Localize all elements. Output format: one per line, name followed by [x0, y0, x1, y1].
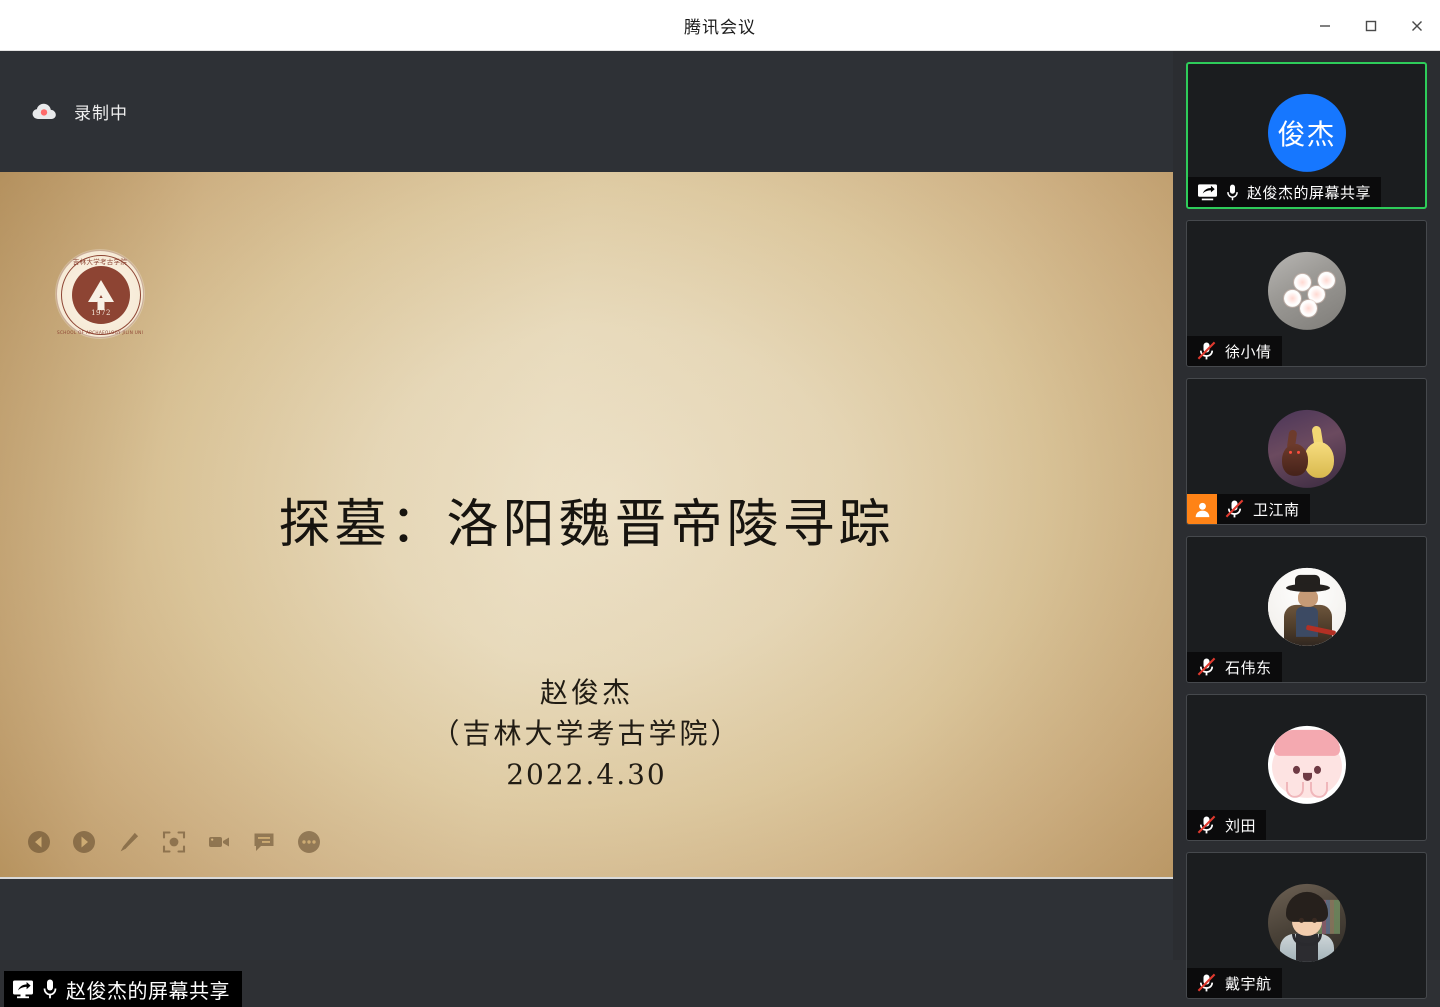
blossom-petal: [1318, 271, 1335, 288]
screen-share-icon: [12, 979, 34, 999]
avatar: [1268, 567, 1346, 645]
minimize-button[interactable]: [1302, 0, 1348, 51]
microphone-muted-icon: [1196, 657, 1218, 677]
tile-footer: 刘田: [1187, 810, 1266, 840]
tile-footer: 卫江南: [1187, 494, 1310, 524]
close-button[interactable]: [1394, 0, 1440, 51]
bunny-dark: [1282, 443, 1308, 475]
slide-subtitle-block: 赵俊杰 （吉林大学考古学院） 2022.4.30: [0, 672, 1173, 795]
slide-date: 2022.4.30: [0, 754, 1173, 795]
logo-bottom-text: SCHOOL OF ARCHAEOLOGY JILIN UNIVERSITY: [57, 330, 143, 335]
video-camera-button[interactable]: [206, 829, 232, 855]
next-slide-button[interactable]: [71, 829, 97, 855]
microphone-muted-icon: [1224, 499, 1246, 519]
participant-sidebar[interactable]: 俊杰 赵俊杰的屏幕共享: [1173, 51, 1440, 960]
anime-eye: [1312, 917, 1317, 922]
avatar: [1268, 251, 1346, 329]
previous-slide-button[interactable]: [26, 829, 52, 855]
cloud-record-icon: [32, 99, 58, 125]
subtitle-button[interactable]: [251, 829, 277, 855]
tile-footer: 徐小倩: [1187, 336, 1282, 366]
logo-core: 1972: [72, 266, 130, 324]
participant-name: 戴宇航: [1225, 973, 1272, 994]
avatar: [1268, 409, 1346, 487]
tile-footer: 石伟东: [1187, 652, 1282, 682]
cartoon-eye: [1293, 765, 1300, 773]
share-owner-name: 赵俊杰的屏幕共享: [66, 975, 230, 1004]
anime-hair: [1286, 891, 1328, 921]
participant-name: 刘田: [1225, 815, 1256, 836]
slide-affiliation: （吉林大学考古学院）: [0, 713, 1173, 754]
anime-eye: [1299, 917, 1304, 922]
cowboy-vest: [1296, 606, 1318, 636]
presentation-slide: 吉林大学考古学院 1972 SCHOOL OF ARCHAEOLOGY JILI…: [0, 172, 1173, 877]
participant-name: 徐小倩: [1225, 341, 1272, 362]
blossom-petal: [1300, 299, 1317, 316]
participant-name: 卫江南: [1253, 499, 1300, 520]
microphone-muted-icon: [1196, 973, 1218, 993]
participant-tile-sharing[interactable]: 俊杰 赵俊杰的屏幕共享: [1186, 62, 1427, 209]
participant-name: 石伟东: [1225, 657, 1272, 678]
cartoon-arm: [1310, 781, 1328, 797]
window-titlebar: 腾讯会议: [0, 0, 1440, 51]
window-title: 腾讯会议: [684, 13, 756, 38]
recording-label: 录制中: [74, 99, 128, 124]
maximize-button[interactable]: [1348, 0, 1394, 51]
participant-tile[interactable]: 戴宇航: [1186, 852, 1427, 999]
cowboy-hat-brim: [1286, 583, 1330, 591]
bunny-yellow: [1304, 441, 1334, 477]
stage-bottom-strip: 赵俊杰的屏幕共享: [0, 877, 1173, 960]
spotlight-button[interactable]: [161, 829, 187, 855]
presenter-toolbar: [26, 829, 322, 855]
participant-tile[interactable]: 刘田: [1186, 694, 1427, 841]
logo-year: 1972: [72, 309, 130, 317]
tile-footer: 戴宇航: [1187, 968, 1282, 998]
participant-tile[interactable]: 卫江南: [1186, 378, 1427, 525]
cartoon-cap: [1274, 729, 1340, 755]
recording-indicator: 录制中: [0, 51, 1173, 172]
more-options-button[interactable]: [296, 829, 322, 855]
host-badge-icon: [1187, 494, 1217, 524]
bunny-eye: [1289, 450, 1292, 453]
microphone-icon: [1225, 183, 1240, 202]
participant-tile[interactable]: 石伟东: [1186, 536, 1427, 683]
avatar: [1268, 883, 1346, 961]
screen-share-icon: [1197, 183, 1218, 202]
logo-top-text: 吉林大学考古学院: [57, 256, 143, 266]
participant-name: 赵俊杰的屏幕共享: [1247, 182, 1371, 203]
share-status-label: 赵俊杰的屏幕共享: [4, 971, 242, 1007]
avatar: [1268, 725, 1346, 803]
participant-tile[interactable]: 徐小倩: [1186, 220, 1427, 367]
shared-screen-stage: 录制中 吉林大学考古学院 1972 SCHOOL OF ARCHAEOLOGY …: [0, 51, 1173, 960]
avatar: 俊杰: [1268, 93, 1346, 171]
university-logo: 吉林大学考古学院 1972 SCHOOL OF ARCHAEOLOGY JILI…: [56, 250, 144, 338]
annotate-pen-button[interactable]: [116, 829, 142, 855]
avatar-initials: 俊杰: [1277, 112, 1335, 152]
cartoon-eye: [1314, 765, 1321, 773]
blossom-petal: [1284, 289, 1301, 306]
slide-presenter-name: 赵俊杰: [0, 672, 1173, 713]
bunny-eye: [1297, 450, 1300, 453]
tile-footer: 赵俊杰的屏幕共享: [1188, 177, 1381, 207]
slide-title: 探墓：洛阳魏晋帝陵寻踪: [0, 482, 1173, 557]
blossom-petal: [1294, 273, 1311, 290]
microphone-icon: [41, 978, 59, 1000]
microphone-muted-icon: [1196, 341, 1218, 361]
microphone-muted-icon: [1196, 815, 1218, 835]
window-controls: [1302, 0, 1440, 51]
